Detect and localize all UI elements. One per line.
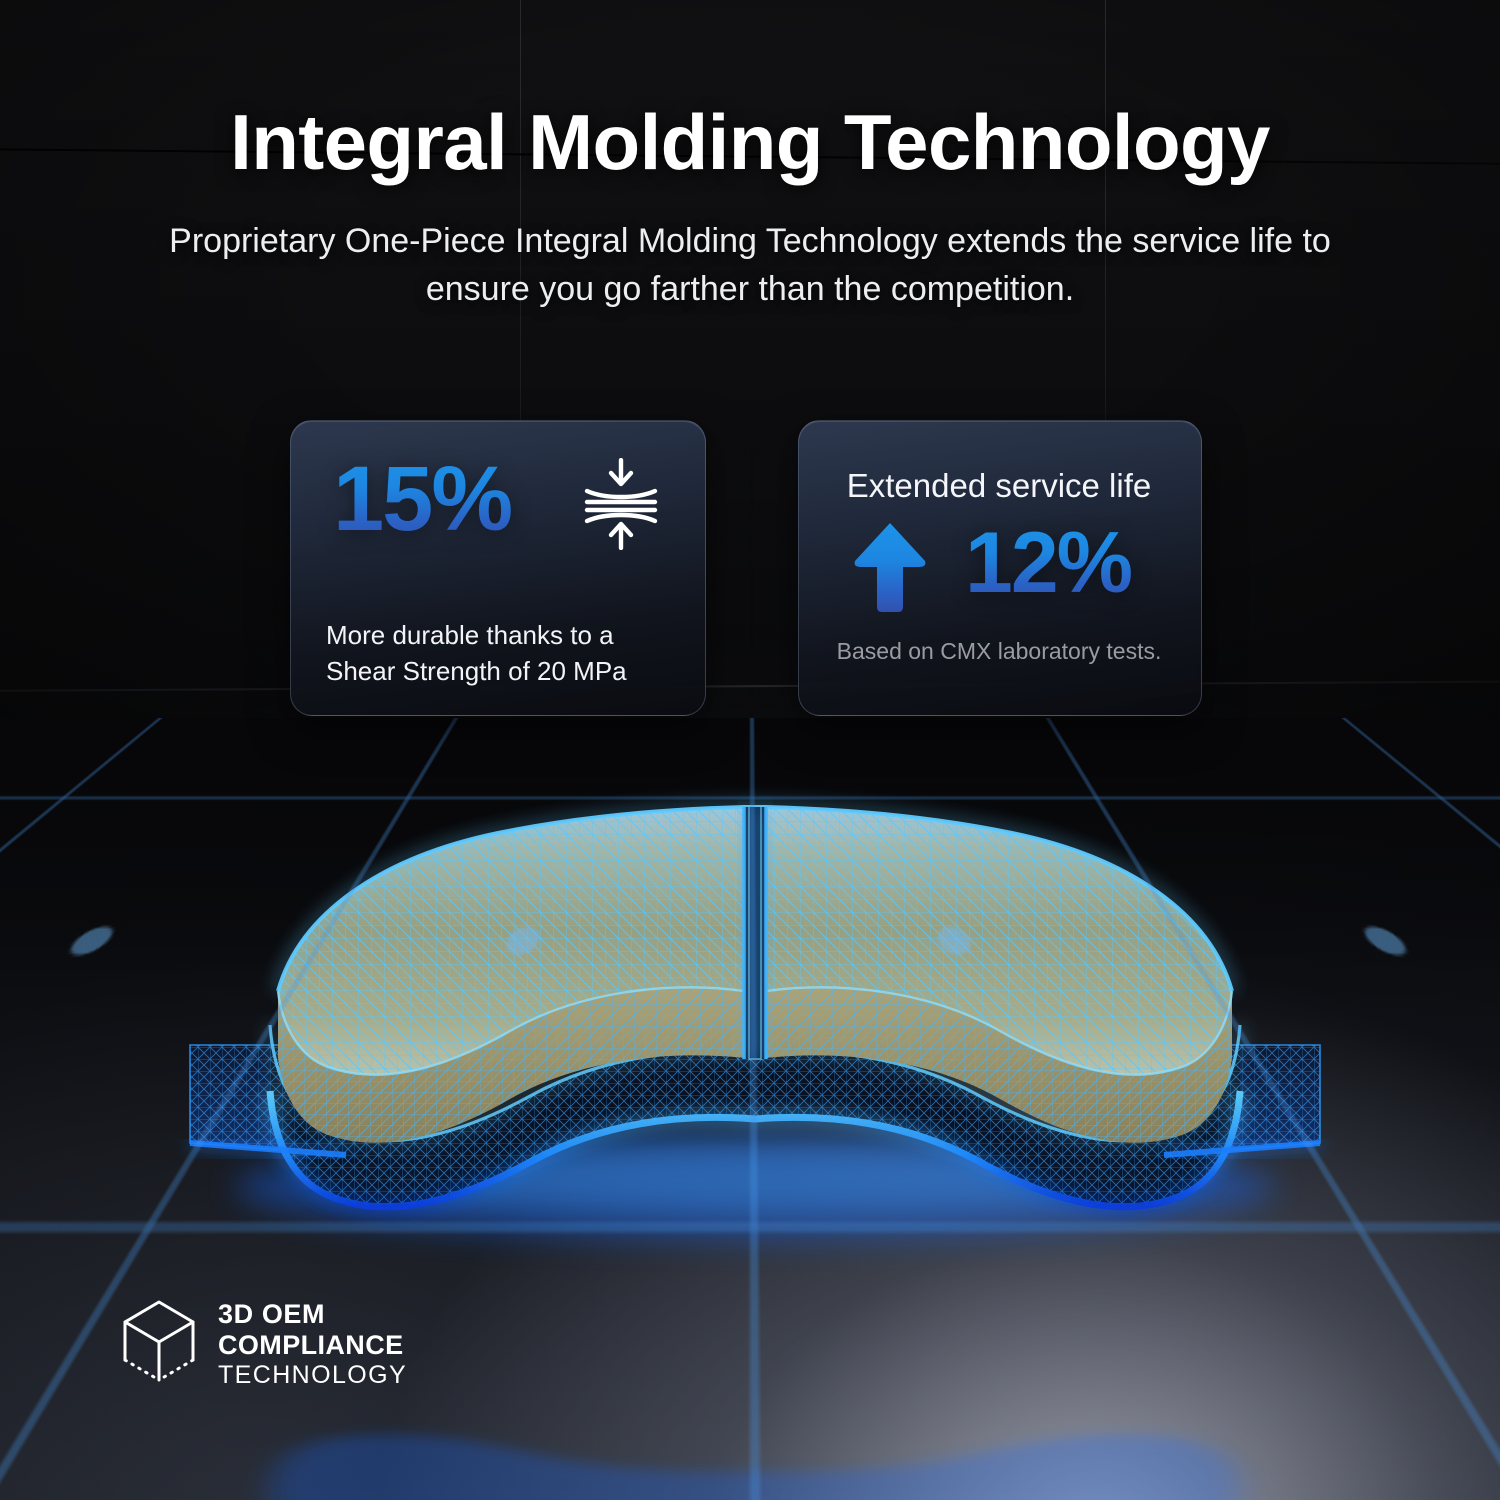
promo-graphic: Integral Molding Technology Proprietary …: [0, 0, 1500, 1500]
page-subtitle: Proprietary One-Piece Integral Molding T…: [130, 218, 1370, 313]
page-title: Integral Molding Technology: [0, 102, 1500, 184]
logo-line-1: 3D OEM: [218, 1301, 407, 1328]
brake-pad-render: [150, 795, 1360, 1225]
service-life-heading: Extended service life: [798, 466, 1200, 506]
logo-line-3: TECHNOLOGY: [218, 1363, 407, 1388]
logo-line-2: COMPLIANCE: [218, 1332, 407, 1359]
arrow-up-icon: [853, 521, 927, 613]
durability-value: 15%: [333, 453, 511, 545]
service-life-value: 12%: [965, 520, 1131, 606]
durability-note: More durable thanks to a Shear Strength …: [326, 618, 688, 690]
wireframe-cube-icon: [120, 1298, 198, 1390]
pad-center-slot: [744, 807, 766, 1059]
compression-icon: [583, 458, 659, 550]
service-life-footnote: Based on CMX laboratory tests.: [798, 637, 1200, 667]
brand-logo: 3D OEM COMPLIANCE TECHNOLOGY: [120, 1288, 480, 1400]
